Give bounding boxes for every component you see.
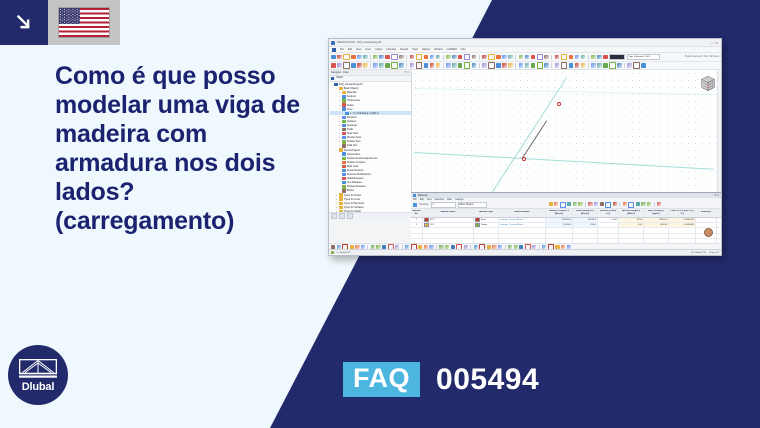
table-column-header[interactable]: Comment bbox=[717, 211, 721, 213]
toolbar-icon[interactable] bbox=[623, 202, 627, 206]
toolbar-icon[interactable] bbox=[581, 63, 586, 68]
table-menu-view[interactable]: View bbox=[427, 199, 432, 201]
table-column-header[interactable]: Specific Weight γ [kN/m³] bbox=[619, 210, 644, 215]
toolbar-icon[interactable] bbox=[569, 63, 574, 68]
toolbar-icon[interactable] bbox=[391, 62, 398, 69]
tree-item-label: Member Sets bbox=[347, 136, 361, 139]
flag-container[interactable] bbox=[48, 0, 120, 45]
toolbar-icon[interactable] bbox=[597, 63, 602, 68]
toolbar-icon[interactable] bbox=[561, 54, 568, 61]
table-menu-edit[interactable]: Edit bbox=[420, 199, 424, 201]
toolbar-icon[interactable] bbox=[373, 63, 378, 68]
tree-expander[interactable]: + bbox=[335, 202, 338, 205]
toolbar-icon[interactable] bbox=[363, 63, 368, 68]
tree-item-label: Node Sets bbox=[347, 132, 358, 135]
table-cell[interactable]: C24 bbox=[423, 223, 474, 227]
table-menu-selection[interactable]: Selection bbox=[435, 199, 444, 201]
menu-item-edit[interactable]: Edit bbox=[348, 48, 352, 51]
toolbar-icon[interactable] bbox=[594, 202, 598, 206]
project-icon bbox=[334, 83, 337, 86]
window-buttons[interactable]: – □ ✕ bbox=[710, 41, 721, 45]
table-column-header[interactable]: Coeff. of Th. Exp. α [1/°C] bbox=[669, 210, 696, 215]
toolbar-icon[interactable] bbox=[446, 63, 451, 68]
toolbar-icon[interactable] bbox=[519, 55, 524, 60]
toolbar-separator bbox=[479, 63, 480, 68]
structure-value-select[interactable]: 1 bbox=[431, 202, 456, 208]
tree-item-label: Surface Contacts bbox=[347, 161, 365, 164]
table-cell[interactable] bbox=[717, 218, 721, 222]
tree-expander[interactable]: + bbox=[335, 198, 338, 201]
table-cell[interactable]: Timber bbox=[474, 223, 499, 227]
navigator-footer-button-2[interactable] bbox=[339, 213, 345, 219]
toolbar-icon[interactable] bbox=[531, 63, 536, 68]
toolbar-icon[interactable] bbox=[641, 63, 646, 68]
table-cell[interactable]: 0.300 bbox=[598, 218, 619, 222]
navigator-footer[interactable] bbox=[329, 212, 411, 218]
app-icon bbox=[331, 41, 335, 45]
toolbar-icon[interactable] bbox=[597, 55, 602, 60]
tree-item-icon bbox=[342, 177, 345, 180]
toolbar-icon[interactable] bbox=[537, 54, 544, 61]
tree-item-label: Materials bbox=[347, 91, 357, 94]
node-point-2[interactable] bbox=[557, 102, 561, 106]
table-cell[interactable] bbox=[499, 228, 546, 232]
toolbar-icon[interactable] bbox=[472, 55, 477, 60]
tree-expander[interactable]: + bbox=[338, 95, 341, 98]
status-plane: Plane: XY bbox=[709, 252, 719, 254]
toolbar-icon[interactable] bbox=[591, 63, 596, 68]
tree-item-icon bbox=[345, 112, 348, 115]
toolbar-icon[interactable] bbox=[502, 63, 507, 68]
toolbar-icon[interactable] bbox=[573, 202, 577, 206]
toolbar-icon[interactable] bbox=[519, 63, 524, 68]
toolbar-icon[interactable] bbox=[628, 202, 634, 208]
table-cell[interactable] bbox=[619, 228, 644, 232]
toolbar-icon[interactable] bbox=[410, 63, 415, 68]
toolbar-icon[interactable] bbox=[351, 63, 356, 68]
tree-expander[interactable]: + bbox=[338, 104, 341, 107]
menu-item-results[interactable]: Results bbox=[400, 48, 408, 51]
dlubal-logo[interactable]: Dlubal bbox=[8, 345, 68, 405]
toolbar-icon[interactable] bbox=[337, 63, 342, 68]
table-cell[interactable]: Isotropic | Linear Elastic bbox=[499, 218, 546, 222]
table-cell[interactable] bbox=[546, 228, 573, 232]
table-cell[interactable]: 210000.0 bbox=[546, 218, 573, 222]
table-column-header[interactable]: Material Name bbox=[423, 211, 474, 213]
table-cell-text: 78.50 bbox=[637, 219, 642, 221]
toolbar-icon[interactable] bbox=[357, 63, 362, 68]
toolbar-icon[interactable] bbox=[488, 62, 495, 69]
toolbar-icon[interactable] bbox=[416, 54, 423, 61]
table-cell[interactable]: 2 bbox=[411, 223, 423, 227]
table-column-header[interactable]: Poisson's Ratio ν [-] bbox=[598, 210, 619, 215]
toolbar-icon[interactable] bbox=[555, 55, 560, 60]
table-icon bbox=[413, 194, 416, 197]
table-cell[interactable]: 7850.00 bbox=[644, 218, 669, 222]
menu-item-assign[interactable]: Assign bbox=[375, 48, 382, 51]
app-screenshot: RFEM 6.01.0047 - FAQ_Verstaerkung.rf6 – … bbox=[328, 38, 722, 256]
tree-expander[interactable]: - bbox=[335, 149, 338, 152]
table-cell[interactable] bbox=[474, 228, 499, 232]
table-cell-text: 420.00 bbox=[660, 224, 667, 226]
toolbar-icon[interactable] bbox=[502, 55, 507, 60]
table-cell[interactable] bbox=[717, 223, 721, 227]
tree-expander[interactable]: + bbox=[335, 206, 338, 209]
toolbar-separator bbox=[515, 63, 516, 68]
tree-expander[interactable]: + bbox=[338, 132, 341, 135]
table-cell[interactable] bbox=[644, 228, 669, 232]
arrow-glyph bbox=[13, 12, 35, 34]
navigator-tab-label: RFEM bbox=[336, 77, 343, 79]
tree-item-icon bbox=[342, 169, 345, 172]
tree-expander[interactable]: + bbox=[338, 144, 341, 147]
table-cell[interactable] bbox=[696, 218, 717, 222]
tree-item-icon bbox=[342, 157, 345, 160]
table-cell[interactable]: Steel bbox=[474, 218, 499, 222]
tree-item-label: Surfaces bbox=[347, 120, 356, 123]
navigator-footer-button-3[interactable] bbox=[347, 213, 353, 219]
toolbar-icon[interactable] bbox=[531, 55, 536, 60]
table-menu-filter[interactable]: Filter bbox=[447, 199, 452, 201]
table-column-header[interactable]: Shear Modulus G [N/mm²] bbox=[573, 210, 598, 215]
menu-item-file[interactable]: File bbox=[340, 48, 344, 51]
tree-item-icon bbox=[342, 185, 345, 188]
toolbar-icon[interactable] bbox=[627, 63, 632, 68]
table-cell-text: 4.20 bbox=[638, 224, 642, 226]
table-cell[interactable] bbox=[411, 234, 423, 238]
toolbar-icon[interactable] bbox=[488, 54, 495, 61]
menu-item-view[interactable]: View bbox=[356, 48, 361, 51]
tree-item-label: Thicknesses bbox=[347, 99, 360, 102]
toolbar-icon[interactable] bbox=[581, 55, 586, 60]
menu-app-logo-icon bbox=[332, 48, 336, 52]
toolbar-icon[interactable] bbox=[496, 55, 501, 60]
table-cell[interactable] bbox=[423, 234, 474, 238]
toolbar-icon[interactable] bbox=[603, 55, 608, 60]
toolbar-icon[interactable] bbox=[436, 55, 441, 60]
toolbar-separator bbox=[443, 63, 444, 68]
toolbar-icon[interactable] bbox=[496, 63, 501, 68]
toolbar-icon[interactable] bbox=[337, 55, 342, 60]
toolbar-icon[interactable] bbox=[549, 202, 553, 206]
toolbar-icon[interactable] bbox=[603, 63, 608, 68]
toolbar-icon[interactable] bbox=[363, 55, 368, 60]
table-cell[interactable] bbox=[717, 228, 721, 232]
toolbar-icon[interactable] bbox=[351, 55, 356, 60]
tree-item-icon bbox=[342, 132, 345, 135]
toolbar-icon[interactable] bbox=[555, 63, 560, 68]
table-cell[interactable] bbox=[411, 228, 423, 232]
toolbar-icon[interactable] bbox=[561, 62, 568, 69]
table-header-row: Material No.Material NameMaterial TypeMa… bbox=[411, 209, 721, 218]
tree-expander[interactable]: - bbox=[338, 108, 341, 111]
table-cell[interactable] bbox=[499, 234, 546, 238]
tree-expander[interactable]: + bbox=[338, 128, 341, 131]
table-cell[interactable]: 690.0 bbox=[573, 223, 598, 227]
table-cell[interactable]: S275 bbox=[423, 218, 474, 222]
table-cell[interactable]: Isotropic | Linear Elastic bbox=[499, 223, 546, 227]
structure-icon bbox=[413, 203, 417, 207]
toolbar-icon[interactable] bbox=[647, 202, 651, 206]
toolbar-icon[interactable] bbox=[508, 55, 513, 60]
cell-color-swatch bbox=[424, 223, 429, 227]
cell-color-swatch bbox=[475, 223, 480, 227]
table-cell[interactable] bbox=[598, 234, 619, 238]
toolbar-icon[interactable] bbox=[600, 202, 604, 206]
toolbar-icon[interactable] bbox=[416, 62, 423, 69]
toolbar-icon[interactable] bbox=[605, 202, 611, 208]
table-cell[interactable] bbox=[696, 223, 717, 227]
tree-expander[interactable]: + bbox=[335, 194, 338, 197]
tree-item-label: Types for Nodes bbox=[344, 194, 361, 197]
toolbar-icon[interactable] bbox=[537, 62, 544, 69]
table-menu-settings[interactable]: Settings bbox=[455, 199, 463, 201]
toolbar-icon[interactable] bbox=[458, 63, 463, 68]
menu-item-options[interactable]: Options bbox=[422, 48, 430, 51]
toolbar-icon[interactable] bbox=[525, 55, 530, 60]
toolbar-icon[interactable] bbox=[544, 63, 549, 68]
table-column-header[interactable]: Mass Density ρ [kg/m³] bbox=[644, 210, 669, 215]
toolbar-icon[interactable] bbox=[482, 55, 487, 60]
toolbar-icon[interactable] bbox=[424, 63, 429, 68]
toolbar-icon[interactable] bbox=[399, 55, 404, 60]
flag-stars bbox=[59, 8, 80, 24]
toolbar-icon[interactable] bbox=[657, 202, 661, 206]
toolbar-icon[interactable] bbox=[641, 202, 645, 206]
table-column-header[interactable]: Material Model bbox=[499, 211, 546, 213]
table-cell[interactable]: 420.00 bbox=[644, 223, 669, 227]
view-cube-icon[interactable] bbox=[699, 74, 717, 92]
toolbar-icon[interactable] bbox=[391, 54, 398, 61]
node-point-1[interactable] bbox=[522, 157, 526, 161]
status-cs: CS: Global XYZ bbox=[691, 252, 706, 254]
toolbar-icon[interactable] bbox=[379, 63, 384, 68]
menu-item-cadbim[interactable]: CAD/BIM bbox=[447, 48, 457, 51]
truss-bridge-icon bbox=[19, 359, 57, 381]
tree-item-icon bbox=[342, 107, 345, 110]
toolbar-icon[interactable] bbox=[343, 62, 350, 69]
toolbar-icon[interactable] bbox=[399, 63, 404, 68]
toolbar-icon[interactable] bbox=[575, 63, 580, 68]
menu-item-calculate[interactable]: Calculate bbox=[386, 48, 396, 51]
object-filter-select[interactable]: Basic Objects bbox=[458, 202, 487, 208]
tree-expander[interactable]: + bbox=[338, 99, 341, 102]
toolbar-separator bbox=[585, 202, 586, 207]
navigator-tree[interactable]: -FAQ_Verstaerkung.rf6-Basic Objects+Mate… bbox=[329, 82, 411, 213]
toolbar-icon[interactable] bbox=[508, 63, 513, 68]
toolbar-icon[interactable] bbox=[609, 62, 616, 69]
tree-expander[interactable]: - bbox=[335, 87, 338, 90]
arrow-down-right-icon[interactable] bbox=[0, 0, 48, 45]
table-column-header[interactable]: Material Type bbox=[474, 211, 499, 213]
toolbar-icon[interactable] bbox=[446, 55, 451, 60]
tree-item-icon bbox=[342, 165, 345, 168]
table-cell[interactable] bbox=[669, 234, 696, 238]
table-cell[interactable]: 80769.2 bbox=[573, 218, 598, 222]
title-line-4: armadura nos dois bbox=[55, 149, 305, 178]
toolbar-separator bbox=[370, 55, 371, 60]
toolbar-icon[interactable] bbox=[588, 202, 592, 206]
tree-item-label: Surface Results Adjustments bbox=[347, 157, 378, 160]
toolbar-icon[interactable] bbox=[458, 55, 463, 60]
toolbar-icon[interactable] bbox=[357, 55, 362, 60]
toolbar-icon[interactable] bbox=[560, 202, 566, 208]
tree-expander[interactable]: + bbox=[338, 91, 341, 94]
menu-item-insert[interactable]: Insert bbox=[365, 48, 371, 51]
table-cell[interactable] bbox=[619, 234, 644, 238]
toolbar-separator bbox=[515, 55, 516, 60]
toolbar-separator bbox=[370, 63, 371, 68]
table-cell[interactable]: 11000.0 bbox=[546, 223, 573, 227]
tree-item-label: Solid Sets bbox=[347, 144, 358, 147]
load-case-select[interactable]: Type Unlimited LC001 bbox=[627, 54, 660, 61]
toolbar-icon[interactable] bbox=[430, 55, 435, 60]
toolbar-icon[interactable] bbox=[424, 55, 429, 60]
table-column-header[interactable]: Modulus of Elast. E [N/mm²] bbox=[546, 210, 573, 215]
faq-badge: FAQ 005494 bbox=[343, 362, 539, 397]
app-toolbar-secondary[interactable] bbox=[329, 62, 721, 70]
table-cell[interactable] bbox=[598, 228, 619, 232]
toolbar-icon[interactable] bbox=[331, 55, 336, 60]
table-cell[interactable] bbox=[717, 234, 721, 238]
toolbar-icon[interactable] bbox=[379, 55, 384, 60]
table-cell[interactable]: 0.0000050 bbox=[669, 223, 696, 227]
table-cell[interactable]: 4.20 bbox=[619, 223, 644, 227]
toolbar-icon[interactable] bbox=[452, 55, 457, 60]
table-cell[interactable]: 0.0000120 bbox=[669, 218, 696, 222]
table-menu-file[interactable]: File bbox=[413, 199, 417, 201]
menu-item-help[interactable]: Help bbox=[461, 48, 466, 51]
toolbar-icon[interactable] bbox=[567, 202, 571, 206]
toolbar-icon[interactable] bbox=[569, 55, 574, 60]
faq-number: 005494 bbox=[436, 365, 539, 395]
table-cell-text: 210000.0 bbox=[562, 219, 571, 221]
tree-item-label: Members bbox=[347, 116, 357, 119]
license-info: Dlubal License ID: Alex Hartmann | Dluba… bbox=[685, 56, 722, 58]
table-cell-text: Timber bbox=[481, 224, 488, 226]
table-column-header[interactable]: Material No. bbox=[411, 210, 423, 215]
table-cell-text: Isotropic | Linear Elastic bbox=[500, 219, 523, 221]
toolbar-separator bbox=[619, 202, 620, 207]
table-cell-text: 11000.0 bbox=[563, 224, 571, 226]
slide-canvas: RFEM 6.01.0047 - FAQ_Verstaerkung.rf6 – … bbox=[0, 0, 760, 428]
tree-item-label: Special Objects bbox=[344, 149, 361, 152]
tree-expander[interactable]: + bbox=[338, 124, 341, 127]
table-cell-text: 2 bbox=[416, 224, 417, 226]
toolbar-icon[interactable] bbox=[472, 63, 477, 68]
language-badge[interactable] bbox=[0, 0, 120, 45]
toolbar-icon[interactable] bbox=[554, 202, 558, 206]
toolbar-separator bbox=[624, 63, 625, 68]
table-cell[interactable] bbox=[546, 234, 573, 238]
rfem-icon bbox=[331, 77, 334, 80]
menu-item-tools[interactable]: Tools bbox=[412, 48, 418, 51]
tree-item-icon bbox=[342, 124, 345, 127]
page-title: Como é que posso modelar uma viga de mad… bbox=[55, 62, 305, 236]
table-cell[interactable]: 1 bbox=[411, 218, 423, 222]
table-cell[interactable] bbox=[423, 228, 474, 232]
toolbar-icon[interactable] bbox=[525, 63, 530, 68]
tree-expander[interactable]: - bbox=[330, 83, 333, 86]
toolbar-icon[interactable] bbox=[452, 63, 457, 68]
toolbar-icon[interactable] bbox=[464, 54, 471, 61]
render-mode-field[interactable] bbox=[609, 54, 625, 61]
table-toolbar[interactable] bbox=[549, 202, 662, 208]
table-cell[interactable] bbox=[669, 228, 696, 232]
navigator-footer-button-1[interactable] bbox=[331, 213, 337, 219]
tree-item-icon bbox=[339, 87, 342, 90]
table-column-header[interactable]: Definition bbox=[696, 211, 717, 213]
tree-item-label: Structure Modifications bbox=[347, 173, 371, 176]
cell-color-swatch bbox=[475, 218, 480, 222]
toolbar-icon[interactable] bbox=[385, 63, 390, 68]
tree-item-label: Types for Surfaces bbox=[344, 206, 364, 209]
tree-item-icon bbox=[342, 103, 345, 106]
toolbar-icon[interactable] bbox=[373, 55, 378, 60]
status-icon bbox=[331, 251, 334, 254]
title-line-5: lados? bbox=[55, 178, 305, 207]
tree-item-label: Surface Sets bbox=[347, 140, 361, 143]
table-panel-title: Materials bbox=[418, 194, 428, 197]
toolbar-icon[interactable] bbox=[575, 55, 580, 60]
navigator-pin-icon[interactable]: ☰ ✕ bbox=[404, 71, 411, 74]
tree-item-icon bbox=[339, 197, 342, 200]
toolbar-icon[interactable] bbox=[578, 202, 582, 206]
toolbar-separator bbox=[654, 202, 655, 207]
table-cell[interactable] bbox=[598, 223, 619, 227]
table-cell-text: 80769.2 bbox=[588, 219, 596, 221]
table-cell-text: 7850.00 bbox=[659, 219, 667, 221]
toolbar-icon[interactable] bbox=[436, 63, 441, 68]
tree-item-icon bbox=[342, 161, 345, 164]
toolbar-icon[interactable] bbox=[464, 62, 471, 69]
toolbar-icon[interactable] bbox=[544, 55, 549, 60]
tree-expander[interactable]: + bbox=[338, 140, 341, 143]
toolbar-icon[interactable] bbox=[385, 55, 390, 60]
app-toolbar-primary[interactable]: Type Unlimited LC001Dlubal License ID: A… bbox=[329, 53, 721, 62]
toolbar-separator bbox=[588, 63, 589, 68]
table-panel-window-buttons[interactable]: ☰ ✕ bbox=[714, 194, 721, 197]
table-cell-text: 0.0000120 bbox=[684, 219, 694, 221]
toolbar-icon[interactable] bbox=[410, 55, 415, 60]
table-cell[interactable] bbox=[573, 234, 598, 238]
toolbar-icon[interactable] bbox=[331, 63, 336, 68]
tree-item-label: Nodal Releases bbox=[347, 177, 364, 180]
toolbar-icon[interactable] bbox=[482, 63, 487, 68]
toolbar-icon[interactable] bbox=[343, 54, 350, 61]
tree-expander[interactable]: + bbox=[338, 116, 341, 119]
toolbar-icon[interactable] bbox=[430, 63, 435, 68]
table-cell[interactable] bbox=[644, 234, 669, 238]
table-cell[interactable] bbox=[474, 234, 499, 238]
tree-expander[interactable]: + bbox=[338, 136, 341, 139]
logo-wordmark: Dlubal bbox=[8, 381, 68, 393]
tree-item-icon bbox=[342, 95, 345, 98]
menu-item-window[interactable]: Window bbox=[434, 48, 443, 51]
toolbar-icon[interactable] bbox=[617, 63, 622, 68]
toolbar-icon[interactable] bbox=[633, 62, 640, 69]
table-cell[interactable] bbox=[573, 228, 598, 232]
toolbar-icon[interactable] bbox=[636, 202, 640, 206]
toolbar-icon[interactable] bbox=[591, 55, 596, 60]
tree-expander[interactable]: + bbox=[338, 120, 341, 123]
title-line-2: modelar uma viga de bbox=[55, 91, 305, 120]
toolbar-icon[interactable] bbox=[613, 202, 617, 206]
title-line-1: Como é que posso bbox=[55, 62, 305, 91]
user-avatar[interactable] bbox=[704, 228, 713, 237]
table-cell[interactable]: 78.50 bbox=[619, 218, 644, 222]
navigator-panel: Navigator - Data ☰ ✕ RFEM -FAQ_Verstaerk… bbox=[329, 70, 412, 218]
